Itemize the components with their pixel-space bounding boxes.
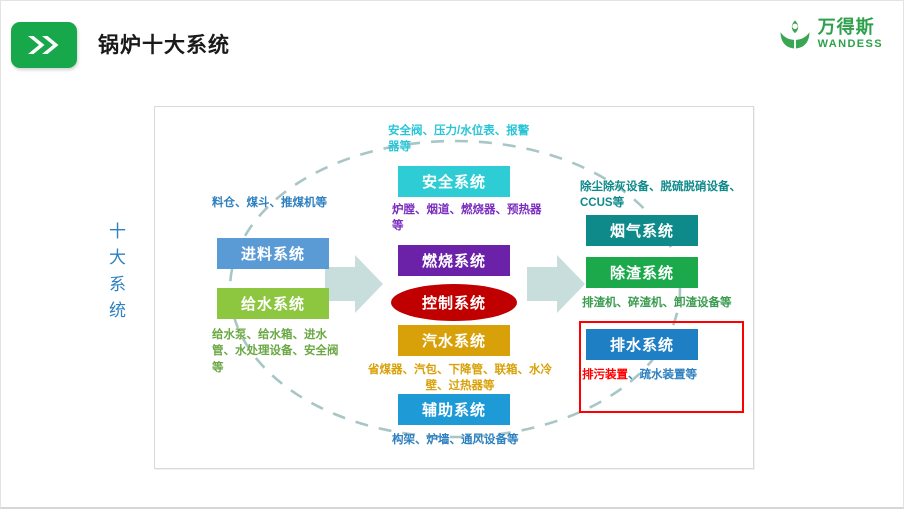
wandess-plant-logo-icon [778, 17, 812, 51]
caption-drainage-system: 排污装置、疏水装置等 [582, 367, 742, 383]
node-safety-system[interactable]: 安全系统 [398, 166, 510, 197]
caption-slag-removal-system: 排渣机、碎渣机、卸渣设备等 [582, 295, 742, 311]
caption-combustion-system: 炉膛、烟道、燃烧器、预热器等 [392, 202, 542, 235]
caption-feed-system: 料仓、煤斗、推煤机等 [212, 195, 342, 211]
arrow-right-1 [325, 255, 383, 313]
vertical-caption-char-4: 统 [105, 298, 131, 324]
node-slag-removal-system[interactable]: 除渣系统 [586, 257, 698, 288]
logo-text-cn: 万得斯 [818, 18, 883, 36]
node-control-system[interactable]: 控制系统 [391, 284, 517, 321]
logo-text-en: WANDESS [818, 39, 883, 50]
caption-drainage-red-part: 排污装置 [582, 369, 628, 381]
node-combustion-system[interactable]: 燃烧系统 [398, 245, 510, 276]
slide-header: 锅炉十大系统 万得斯 WANDESS [1, 1, 904, 89]
vertical-caption-char-1: 十 [105, 219, 131, 245]
node-feed-system[interactable]: 进料系统 [217, 238, 329, 269]
vertical-caption-char-3: 系 [105, 272, 131, 298]
node-water-supply-system[interactable]: 给水系统 [217, 288, 329, 319]
node-flue-gas-system[interactable]: 烟气系统 [586, 215, 698, 246]
caption-flue-gas-system: 除尘除灰设备、脱硫脱硝设备、CCUS等 [580, 179, 750, 212]
node-drainage-system[interactable]: 排水系统 [586, 329, 698, 360]
node-steam-water-system[interactable]: 汽水系统 [398, 325, 510, 356]
caption-drainage-rest-part: 、疏水装置等 [628, 369, 697, 381]
caption-safety-system: 安全阀、压力/水位表、报警器等 [388, 123, 538, 156]
caption-steam-water-system: 省煤器、汽包、下降管、联箱、水冷壁、过热器等 [360, 362, 560, 395]
caption-water-supply-system: 给水泵、给水箱、进水管、水处理设备、安全阀等 [212, 327, 342, 376]
vertical-caption-char-2: 大 [105, 245, 131, 271]
slide-canvas: 锅炉十大系统 万得斯 WANDESS 十 大 系 统 [0, 0, 904, 509]
caption-auxiliary-system: 构架、炉墙、通风设备等 [392, 432, 542, 448]
boiler-systems-diagram: 料仓、煤斗、推煤机等 进料系统 给水系统 给水泵、给水箱、进水管、水处理设备、安… [154, 106, 754, 469]
double-chevron-icon [11, 22, 77, 68]
vertical-caption-ten-systems: 十 大 系 统 [105, 219, 131, 324]
page-title: 锅炉十大系统 [98, 29, 230, 59]
arrow-right-2 [527, 255, 585, 313]
brand-logo: 万得斯 WANDESS [778, 17, 883, 51]
node-auxiliary-system[interactable]: 辅助系统 [398, 394, 510, 425]
